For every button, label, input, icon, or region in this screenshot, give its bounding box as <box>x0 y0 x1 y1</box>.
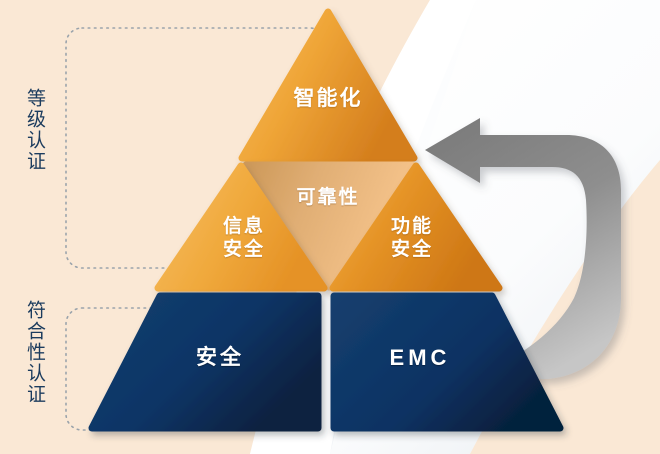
tier-label-grade: 等级认证 <box>24 88 44 172</box>
tier-label-compliance: 符合性认证 <box>24 300 44 405</box>
block-label-emc: EMC <box>330 345 510 372</box>
block-label-reliability: 可靠性 <box>254 186 402 209</box>
block-label-intelligence: 智能化 <box>256 86 400 112</box>
diagram-svg <box>0 0 660 454</box>
diagram-canvas: 等级认证 符合性认证 智能化 可靠性 信息 安全 功能 安全 安全 EMC <box>0 0 660 454</box>
block-label-functional-safety: 功能 安全 <box>354 215 470 261</box>
block-label-safety: 安全 <box>150 345 290 371</box>
block-label-information-security: 信息 安全 <box>186 215 302 261</box>
